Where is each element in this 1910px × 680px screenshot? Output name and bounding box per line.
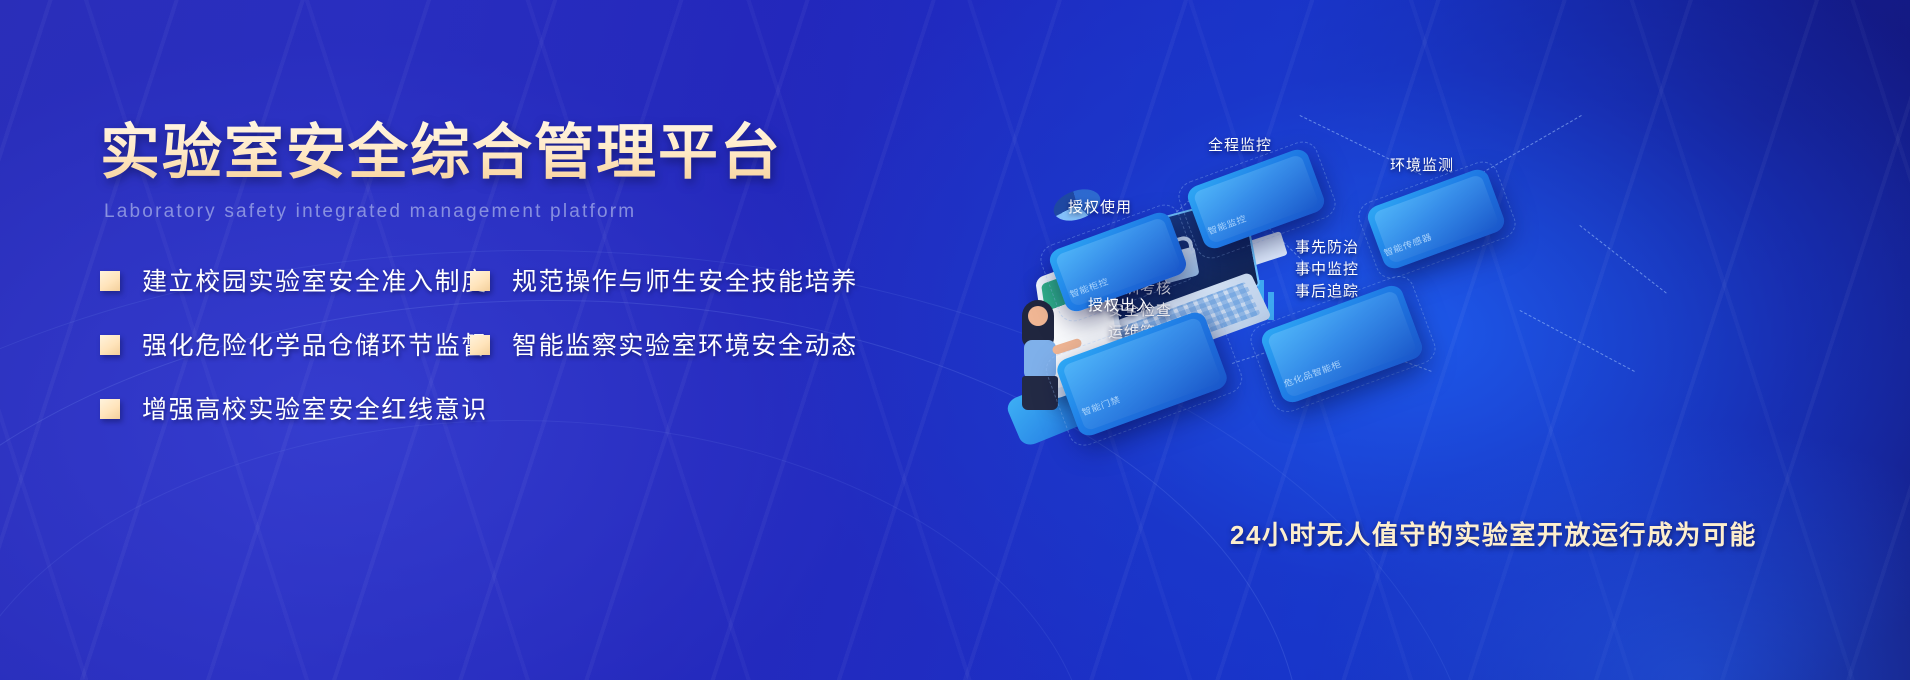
headline-block: 实验室安全综合管理平台 Laboratory safety integrated…	[100, 118, 900, 223]
connector-line	[1520, 310, 1635, 372]
feature-label: 建立校园实验室安全准入制度	[142, 262, 488, 298]
node-label-authorized-use: 授权使用	[1068, 197, 1132, 219]
page-title: 实验室安全综合管理平台	[100, 118, 900, 189]
bullet-square-icon	[100, 271, 120, 291]
feature-label: 智能监察实验室环境安全动态	[512, 326, 858, 362]
feature-item: 建立校园实验室安全准入制度	[100, 262, 470, 298]
bottom-tagline: 24小时无人值守的实验室开放运行成为可能	[1230, 515, 1757, 552]
feature-row: 强化危险化学品仓储环节监督 智能监察实验室环境安全动态	[100, 326, 920, 362]
background-arc	[0, 420, 1092, 680]
feature-item: 强化危险化学品仓储环节监督	[100, 326, 470, 362]
bullet-square-icon	[470, 335, 490, 355]
feature-row: 建立校园实验室安全准入制度 规范操作与师生安全技能培养	[100, 262, 920, 298]
feature-label: 增强高校实验室安全红线意识	[142, 390, 488, 426]
connector-line	[1579, 225, 1666, 294]
page-subtitle: Laboratory safety integrated management …	[104, 201, 900, 223]
feature-item: 智能监察实验室环境安全动态	[470, 326, 858, 362]
feature-item: 增强高校实验室安全红线意识	[100, 390, 470, 426]
feature-item: 规范操作与师生安全技能培养	[470, 262, 858, 298]
diagram-illustration: 培训考核 安全检查 运维管理 授权使用 智能柜控 全程监控 智能监控 环境监测 …	[1000, 95, 1900, 655]
person-head	[1028, 306, 1048, 326]
bullet-square-icon	[470, 271, 490, 291]
feature-row: 增强高校实验室安全红线意识	[100, 390, 920, 426]
banner-root: 实验室安全综合管理平台 Laboratory safety integrated…	[0, 0, 1910, 680]
node-label-authorized-access: 授权出入	[1088, 295, 1152, 317]
feature-list: 建立校园实验室安全准入制度 规范操作与师生安全技能培养 强化危险化学品仓储环节监…	[100, 262, 920, 454]
bullet-square-icon	[100, 335, 120, 355]
node-label-full-monitoring: 全程监控	[1208, 135, 1272, 157]
feature-label: 规范操作与师生安全技能培养	[512, 262, 858, 298]
bullet-square-icon	[100, 399, 120, 419]
feature-label: 强化危险化学品仓储环节监督	[142, 326, 488, 362]
